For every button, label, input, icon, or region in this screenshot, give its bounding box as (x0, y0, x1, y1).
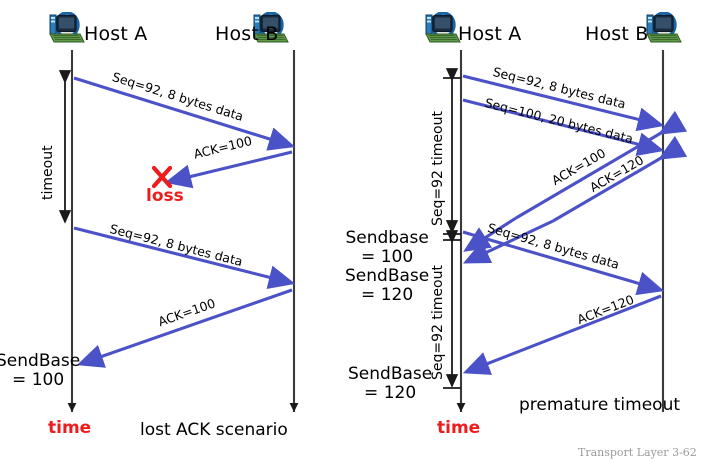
sendbase-mid-line1: Sendbase (345, 229, 429, 248)
sendbase-mid-line4: = 120 (345, 286, 429, 305)
sendbase-annotation-right: SendBase = 120 (348, 365, 432, 403)
time-label-left: time (48, 418, 91, 438)
host-label-b-left: Host B (215, 23, 279, 45)
arrow-ack100-second (80, 290, 292, 364)
sendbase-line2: = 100 (0, 371, 80, 390)
time-label-right: time (437, 418, 480, 438)
timeout-label-right-2: Seq=92 timeout (430, 265, 446, 380)
loss-label: loss (146, 186, 184, 206)
sendbase-annotation-mid: Sendbase = 100 SendBase = 120 (345, 229, 429, 305)
arrow-ack100-lost (168, 152, 292, 182)
sendbase-mid-line2: = 100 (345, 248, 429, 267)
footer-slide-label: Transport Layer 3-62 (578, 446, 697, 459)
arrow-seq92-retx (74, 228, 292, 283)
host-label-a-left: Host A (84, 23, 148, 45)
caption-right: premature timeout (519, 395, 680, 415)
timeout-label-left: timeout (40, 145, 56, 200)
sendbase-line1: SendBase (0, 352, 80, 371)
sendbase-r-line1: SendBase (348, 365, 432, 384)
sendbase-r-line2: = 120 (348, 384, 432, 403)
host-label-b-right: Host B (585, 23, 649, 45)
sendbase-annotation-left: SendBase = 100 (0, 352, 80, 390)
loss-x-icon (154, 168, 170, 186)
timeout-label-right-1: Seq=92 timeout (430, 111, 446, 226)
sendbase-mid-line3: SendBase (345, 267, 429, 286)
computer-icon (44, 12, 88, 46)
host-label-a-right: Host A (458, 23, 522, 45)
caption-left: lost ACK scenario (140, 420, 288, 440)
figure-canvas: Host A Host B timeout Seq=92, 8 bytes da… (0, 0, 713, 456)
arrow-ack120-final (466, 296, 661, 372)
arrow-seq92-first (74, 78, 292, 146)
arrow-ack100 (516, 133, 661, 218)
